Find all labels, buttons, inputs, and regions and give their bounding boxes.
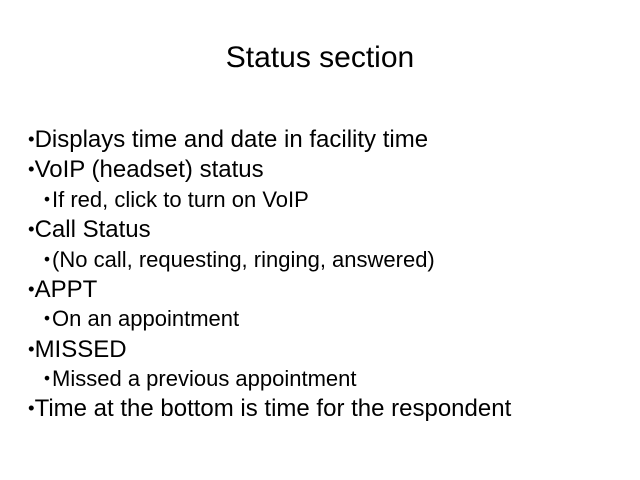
slide-canvas: Status section •Displays time and date i… [0,0,640,480]
list-item-label: Time at the bottom is time for the respo… [35,395,512,422]
list-item: •Call Status [28,214,628,244]
list-item: •Time at the bottom is time for the resp… [28,393,628,423]
bullet-list: •Displays time and date in facility time… [28,124,628,424]
list-item: •VoIP (headset) status [28,154,628,184]
list-item-label: On an appointment [52,306,239,331]
list-item: •On an appointment [28,304,628,333]
list-item-label: APPT [35,276,98,303]
list-item-label: Missed a previous appointment [52,366,357,391]
page-title: Status section [0,40,640,76]
list-item-label: MISSED [35,336,127,363]
list-item-label: Call Status [35,216,151,243]
bullet-icon: • [44,368,50,388]
list-item: •MISSED [28,334,628,364]
list-item-label: Displays time and date in facility time [35,126,429,153]
list-item: •(No call, requesting, ringing, answered… [28,245,628,274]
bullet-icon: • [44,249,50,269]
list-item: •APPT [28,274,628,304]
list-item: •Missed a previous appointment [28,364,628,393]
list-item: •Displays time and date in facility time [28,124,628,154]
list-item-label: If red, click to turn on VoIP [52,187,309,212]
bullet-icon: • [44,189,50,209]
list-item-label: (No call, requesting, ringing, answered) [52,247,435,272]
list-item: •If red, click to turn on VoIP [28,185,628,214]
bullet-icon: • [44,308,50,328]
list-item-label: VoIP (headset) status [35,157,264,184]
